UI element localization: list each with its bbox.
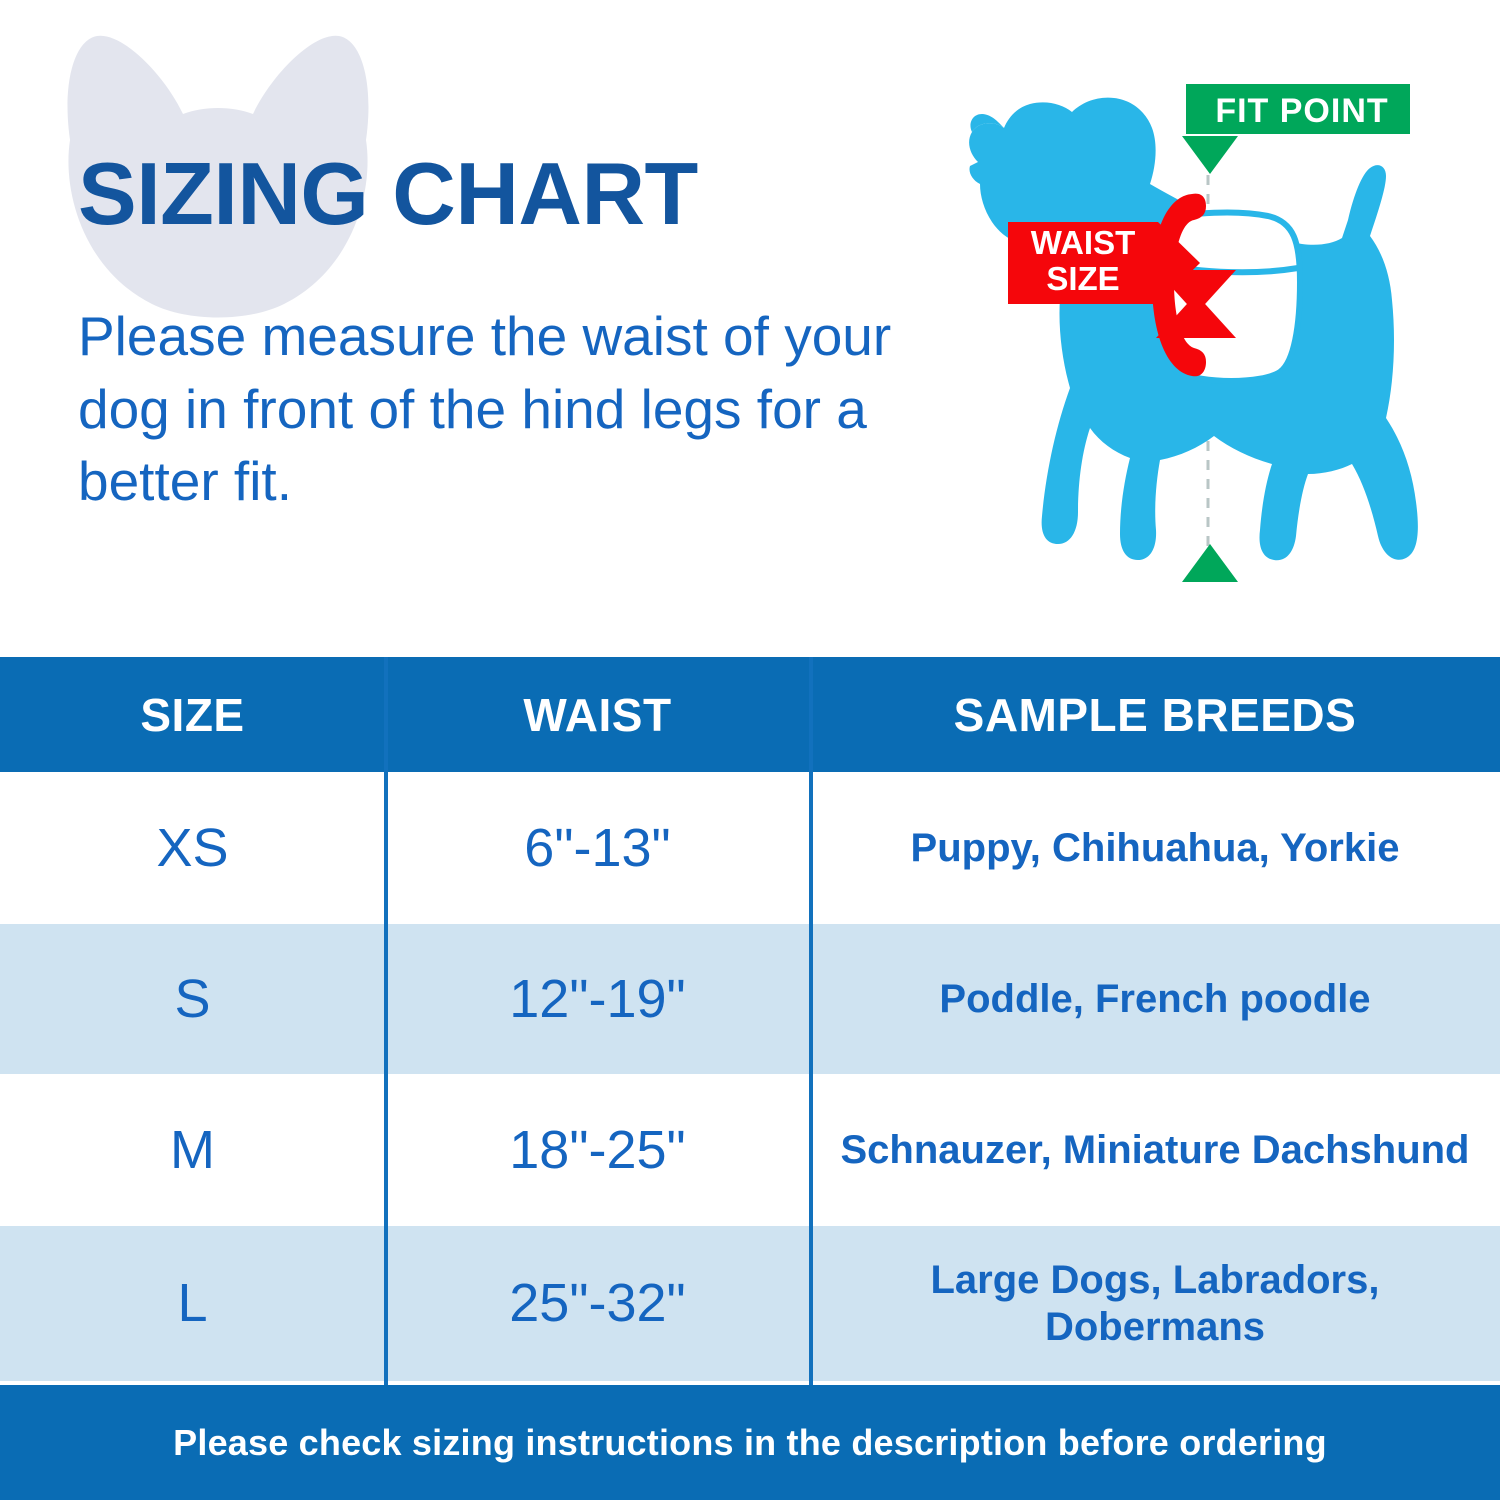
column-divider-waist-breeds <box>809 657 813 1385</box>
fit-point-label: FIT POINT <box>1215 92 1388 130</box>
cell-breeds: Large Dogs, Labradors, Dobermans <box>810 1257 1500 1350</box>
table-row: M 18"-25" Schnauzer, Miniature Dachshund <box>0 1074 1500 1226</box>
cell-breeds: Schnauzer, Miniature Dachshund <box>810 1127 1500 1173</box>
table-row: XS 6"-13" Puppy, Chihuahua, Yorkie <box>0 772 1500 924</box>
footer-note: Please check sizing instructions in the … <box>173 1422 1327 1464</box>
cell-waist: 12"-19" <box>385 968 810 1031</box>
waist-size-label-line1: WAIST <box>1031 224 1136 261</box>
column-header-waist: WAIST <box>385 688 810 742</box>
measure-instruction: Please measure the waist of your dog in … <box>78 300 958 518</box>
cell-size: L <box>0 1272 385 1335</box>
cell-breeds: Puppy, Chihuahua, Yorkie <box>810 825 1500 871</box>
column-header-size: SIZE <box>0 688 385 742</box>
dog-measurement-illustration: WAIST SIZE FIT POINT <box>950 70 1450 600</box>
fit-point-badge: FIT POINT <box>1182 84 1410 174</box>
waist-size-label-line2: SIZE <box>1046 260 1119 297</box>
column-divider-size-waist <box>384 657 388 1385</box>
fit-point-bottom-triangle <box>1182 544 1238 582</box>
cell-waist: 18"-25" <box>385 1119 810 1182</box>
table-row: L 25"-32" Large Dogs, Labradors, Doberma… <box>0 1226 1500 1381</box>
footer-bar: Please check sizing instructions in the … <box>0 1385 1500 1500</box>
cell-size: M <box>0 1119 385 1182</box>
table-header-row: SIZE WAIST SAMPLE BREEDS <box>0 657 1500 772</box>
sizing-table: SIZE WAIST SAMPLE BREEDS XS 6"-13" Puppy… <box>0 657 1500 1385</box>
page-title: SIZING CHART <box>78 150 698 238</box>
cell-waist: 6"-13" <box>385 817 810 880</box>
fit-point-top-triangle <box>1182 136 1238 174</box>
cell-breeds: Poddle, French poodle <box>810 976 1500 1022</box>
column-header-breeds: SAMPLE BREEDS <box>810 688 1500 742</box>
cell-waist: 25"-32" <box>385 1272 810 1335</box>
cell-size: S <box>0 968 385 1031</box>
table-row: S 12"-19" Poddle, French poodle <box>0 924 1500 1074</box>
cell-size: XS <box>0 817 385 880</box>
